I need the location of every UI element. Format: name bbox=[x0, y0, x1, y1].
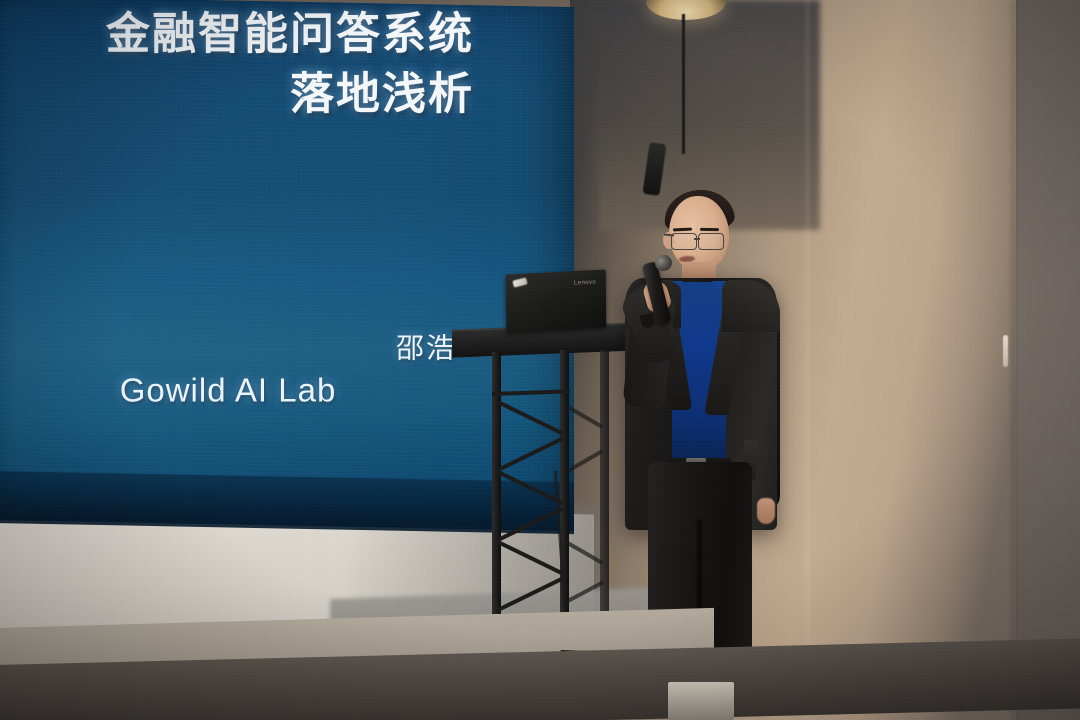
room-wall-right-panel bbox=[1016, 0, 1080, 720]
door-handle-icon bbox=[1003, 335, 1008, 367]
slide-title-line-2: 落地浅析 bbox=[0, 67, 474, 121]
presenter-eyebrow bbox=[700, 228, 719, 231]
floor-box bbox=[668, 682, 734, 720]
slide-title-line-1: 金融智能问答系统 bbox=[0, 8, 474, 62]
slide-speaker-name: 邵浩 bbox=[0, 327, 456, 367]
eyeglasses-icon bbox=[671, 233, 697, 250]
eyeglasses-icon bbox=[698, 233, 724, 250]
wall-seam bbox=[806, 0, 809, 720]
presenter-right-hand bbox=[757, 498, 775, 524]
laptop-brand-label: Lenovo bbox=[574, 280, 596, 287]
slide-organization: Gowild AI Lab bbox=[0, 372, 460, 410]
presentation-photo-scene: 金融智能问答系统 落地浅析 邵浩 Gowild AI Lab Lenovo bbox=[0, 0, 1080, 720]
slide-content: 金融智能问答系统 落地浅析 邵浩 Gowild AI Lab bbox=[0, 2, 574, 526]
eyeglasses-bridge bbox=[694, 238, 700, 240]
pendant-lamp-cord bbox=[682, 14, 685, 154]
slide-title: 金融智能问答系统 落地浅析 bbox=[0, 8, 474, 121]
projection-screen: 金融智能问答系统 落地浅析 邵浩 Gowild AI Lab bbox=[0, 0, 574, 531]
wall-seam bbox=[1012, 0, 1015, 720]
